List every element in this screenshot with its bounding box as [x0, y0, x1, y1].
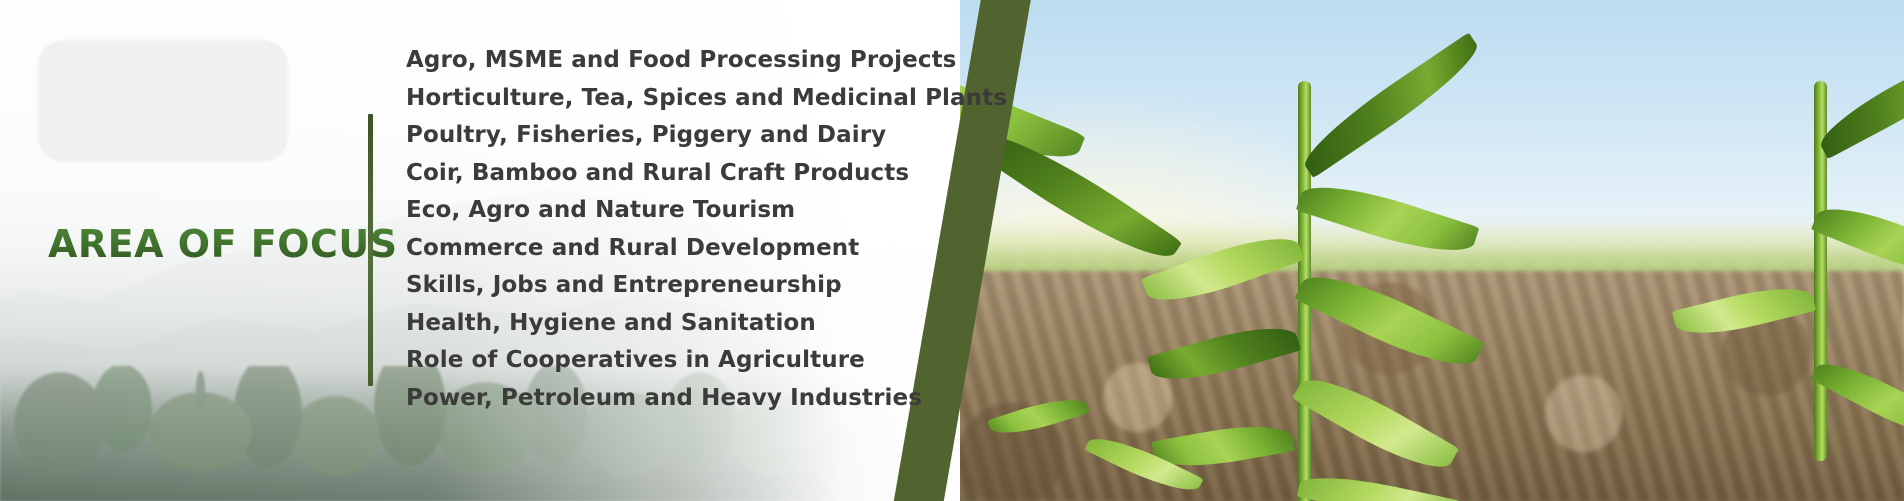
list-item: Power, Petroleum and Heavy Industries — [406, 380, 1007, 418]
banner-content: AREA OF FOCUS Agro, MSME and Food Proces… — [0, 0, 1904, 501]
list-item: Agro, MSME and Food Processing Projects — [406, 42, 1007, 80]
list-item: Role of Cooperatives in Agriculture — [406, 342, 1007, 380]
list-item: Commerce and Rural Development — [406, 230, 1007, 268]
area-of-focus-banner: AREA OF FOCUS Agro, MSME and Food Proces… — [0, 0, 1904, 501]
page-title: AREA OF FOCUS — [48, 222, 398, 266]
list-item: Horticulture, Tea, Spices and Medicinal … — [406, 80, 1007, 118]
focus-area-list: Agro, MSME and Food Processing Projects … — [406, 42, 1007, 417]
list-item: Health, Hygiene and Sanitation — [406, 305, 1007, 343]
list-item: Poultry, Fisheries, Piggery and Dairy — [406, 117, 1007, 155]
list-item: Skills, Jobs and Entrepreneurship — [406, 267, 1007, 305]
list-item: Eco, Agro and Nature Tourism — [406, 192, 1007, 230]
list-item: Coir, Bamboo and Rural Craft Products — [406, 155, 1007, 193]
